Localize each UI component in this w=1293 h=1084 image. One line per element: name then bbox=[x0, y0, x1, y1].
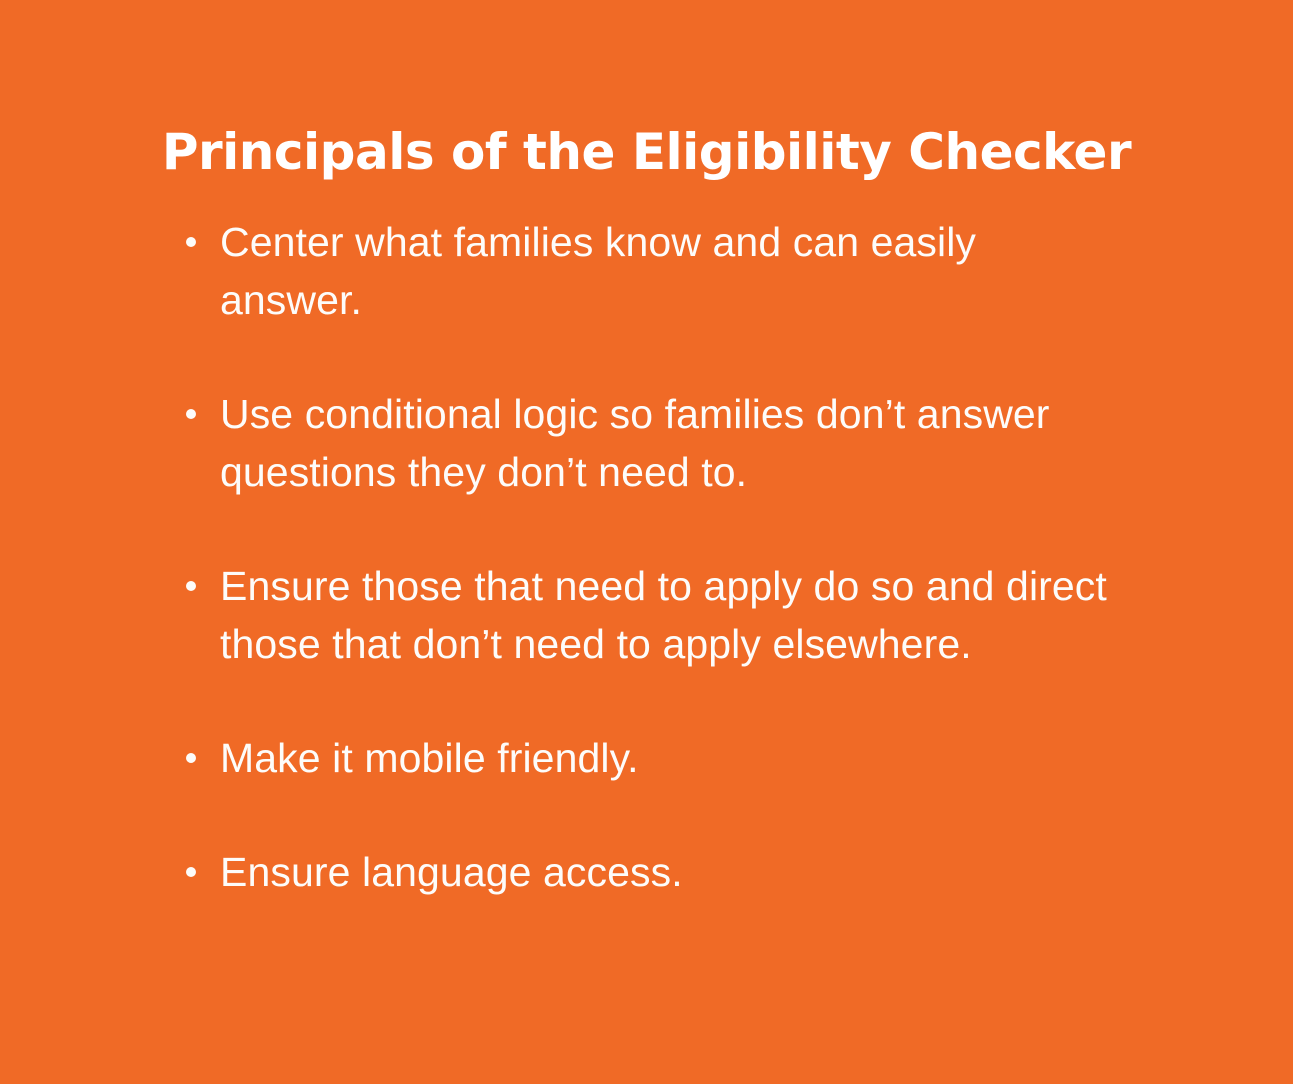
bullet-dot-icon bbox=[186, 867, 196, 877]
slide: Principals of the Eligibility Checker Ce… bbox=[0, 0, 1293, 1084]
bullet-dot-icon bbox=[186, 409, 196, 419]
list-item-label: Ensure those that need to apply do so an… bbox=[220, 557, 1150, 673]
bullet-dot-icon bbox=[186, 753, 196, 763]
list-item: Center what families know and can easily… bbox=[182, 213, 1182, 329]
principles-list: Center what families know and can easily… bbox=[182, 213, 1182, 901]
page-title: Principals of the Eligibility Checker bbox=[0, 122, 1293, 182]
list-item-label: Ensure language access. bbox=[220, 843, 1120, 901]
list-item: Use conditional logic so families don’t … bbox=[182, 385, 1182, 501]
bullet-dot-icon bbox=[186, 237, 196, 247]
list-item: Make it mobile friendly. bbox=[182, 729, 1182, 787]
list-item: Ensure those that need to apply do so an… bbox=[182, 557, 1182, 673]
list-item: Ensure language access. bbox=[182, 843, 1182, 901]
list-item-label: Use conditional logic so families don’t … bbox=[220, 385, 1182, 501]
list-item-label: Center what families know and can easily… bbox=[220, 213, 1100, 329]
list-item-label: Make it mobile friendly. bbox=[220, 729, 1120, 787]
bullet-dot-icon bbox=[186, 581, 196, 591]
